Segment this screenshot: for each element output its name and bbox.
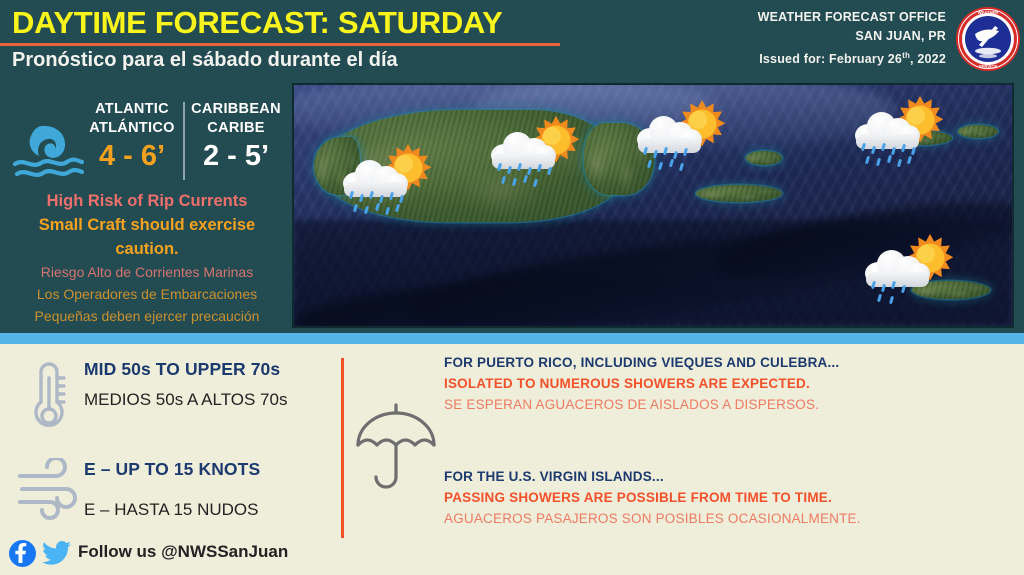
caribbean-column: CARIBBEAN CARIBE 2 - 5’ [188,100,284,172]
forecast-map [292,83,1014,328]
usvi-forecast-english: PASSING SHOWERS ARE POSSIBLE FROM TIME T… [444,487,861,508]
rain-drops-icon [642,147,704,175]
facebook-icon[interactable] [9,540,36,567]
rain-drops-icon [496,163,558,191]
rain-drops-icon [860,143,922,171]
rain-drops-icon [348,191,410,219]
atlantic-label-en: ATLANTIC [84,100,180,119]
wind-icon [16,458,84,520]
cloud-icon [855,109,921,147]
section-divider-band [0,333,1024,344]
marine-column-divider [183,102,185,180]
marine-wave-heights: ATLANTIC ATLÁNTICO 4 - 6’ CARIBBEAN CARI… [84,100,284,182]
nws-seal-icon: WEATHER SERVICE [955,6,1021,72]
temperature-spanish: MEDIOS 50s A ALTOS 70s [84,390,287,410]
cloud-icon [637,113,703,151]
office-location: SAN JUAN, PR [758,27,946,46]
office-info: WEATHER FORECAST OFFICE SAN JUAN, PR Iss… [758,8,946,69]
small-craft-warning-line1: Small Craft should exercise [8,213,286,237]
vieques-island [696,185,782,202]
pr-forecast-spanish: SE ESPERAN AGUACEROS DE AISLADOS A DISPE… [444,394,839,415]
top-section: DAYTIME FORECAST: SATURDAY Pronóstico pa… [0,0,1024,333]
small-craft-warning-es-line1: Los Operadores de Embarcaciones [8,283,286,305]
atlantic-wave-height: 4 - 6’ [84,141,180,172]
usvi-forecast-header: FOR THE U.S. VIRGIN ISLANDS... [444,466,861,487]
small-craft-warning-es-line2: Pequeñas deben ejercer precaución [8,305,286,327]
umbrella-icon [352,399,440,491]
pr-forecast-english: ISOLATED TO NUMEROUS SHOWERS ARE EXPECTE… [444,373,839,394]
rip-current-warning: High Risk of Rip Currents [8,189,286,213]
marine-warning-english: High Risk of Rip Currents Small Craft sh… [8,189,286,261]
wave-icon [12,122,84,184]
rip-current-warning-es: Riesgo Alto de Corrientes Marinas [8,261,286,283]
forecast-virgin-islands: FOR THE U.S. VIRGIN ISLANDS... PASSING S… [444,466,861,529]
thermometer-icon [22,356,76,434]
caribbean-label-es: CARIBE [188,119,284,138]
forecast-puerto-rico: FOR PUERTO RICO, INCLUDING VIEQUES AND C… [444,352,839,415]
usvi-forecast-spanish: AGUACEROS PASAJEROS SON POSIBLES OCASION… [444,508,861,529]
cloud-icon [491,129,557,167]
wind-english: E – UP TO 15 KNOTS [84,459,260,480]
office-name: WEATHER FORECAST OFFICE [758,8,946,27]
sun-cloud-rain-west-pr [342,143,434,221]
page-title: DAYTIME FORECAST: SATURDAY [12,5,503,41]
pr-forecast-header: FOR PUERTO RICO, INCLUDING VIEQUES AND C… [444,352,839,373]
issued-date: Issued for: February 26th, 2022 [758,46,946,69]
page-subtitle-spanish: Pronóstico para el sábado durante el día [12,49,398,72]
cloud-icon [343,157,409,195]
small-craft-warning-line2: caution. [8,237,286,261]
st-john-island [958,125,998,138]
caribbean-wave-height: 2 - 5’ [188,141,284,172]
sun-cloud-rain-east-pr [636,99,728,177]
twitter-icon[interactable] [42,541,71,566]
atlantic-column: ATLANTIC ATLÁNTICO 4 - 6’ [84,100,180,172]
sun-cloud-rain-st-croix [864,233,956,311]
temperature-english: MID 50s TO UPPER 70s [84,359,280,380]
caribbean-label-en: CARIBBEAN [188,100,284,119]
sun-cloud-rain-central-pr [490,115,582,193]
cloud-icon [865,247,931,285]
wind-spanish: E – HASTA 15 NUDOS [84,500,258,520]
rain-drops-icon [870,281,932,309]
culebra-island [746,151,782,165]
marine-warning-spanish: Riesgo Alto de Corrientes Marinas Los Op… [8,261,286,327]
follow-text: Follow us @NWSSanJuan [78,542,288,562]
atlantic-label-es: ATLÁNTICO [84,119,180,138]
title-divider-rule [0,43,560,46]
vertical-divider [341,358,344,538]
sun-cloud-rain-virgin-islands [854,95,946,173]
weather-graphic: DAYTIME FORECAST: SATURDAY Pronóstico pa… [0,0,1024,575]
